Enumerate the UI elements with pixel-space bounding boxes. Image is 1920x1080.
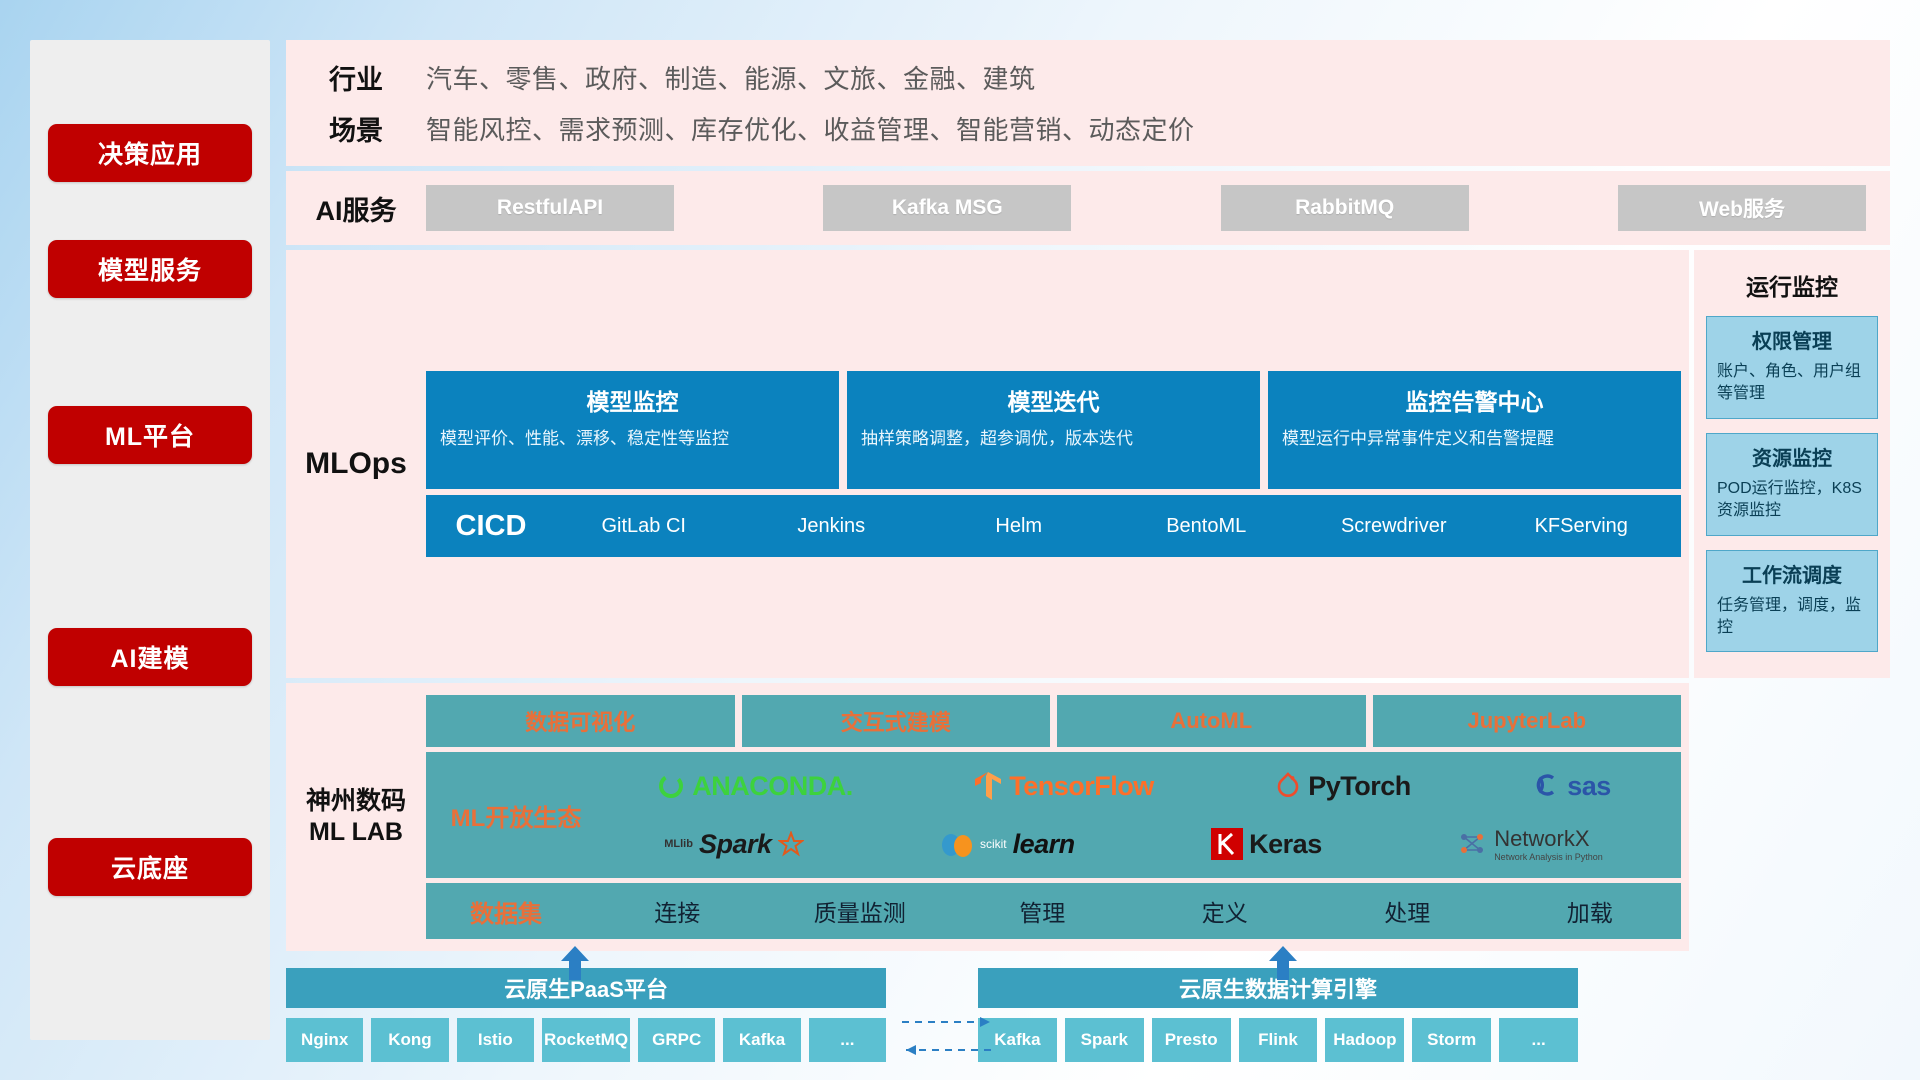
mlops-card-model-monitoring[interactable]: 模型监控 模型评价、性能、漂移、稳定性等监控 [426, 371, 839, 489]
scenario-label: 场景 [286, 109, 426, 148]
card-title: 模型迭代 [861, 383, 1246, 417]
mlops-label: MLOps [286, 447, 426, 481]
anaconda-logo-text: ANACONDA. [692, 771, 853, 802]
networkx-logo-text: NetworkX [1494, 826, 1603, 852]
spark-logo-text: Spark [699, 829, 772, 860]
ml-lab-label-line2: ML LAB [286, 817, 426, 848]
service-restful-api[interactable]: RestfulAPI [426, 185, 674, 231]
tensorflow-icon [973, 770, 1003, 802]
cicd-item-screwdriver[interactable]: Screwdriver [1300, 515, 1488, 538]
ml-lab-band: 神州数码 ML LAB 数据可视化 交互式建模 AutoML JupyterLa… [286, 683, 1890, 951]
arrow-up-data-engine [1266, 946, 1300, 980]
rail-item-model-service[interactable]: 模型服务 [48, 240, 252, 298]
cloud-base-band: 云原生PaaS平台 Nginx Kong Istio RocketMQ GRPC… [286, 968, 1890, 1062]
layer-rail: 决策应用 模型服务 ML平台 AI建模 云底座 [30, 40, 270, 1040]
keras-logo-group: Keras [1211, 828, 1322, 860]
paas-chip-rocketmq[interactable]: RocketMQ [542, 1018, 630, 1062]
engine-chip-hadoop[interactable]: Hadoop [1325, 1018, 1404, 1062]
tab-jupyterlab[interactable]: JupyterLab [1373, 695, 1682, 747]
architecture-diagram: 决策应用 模型服务 ML平台 AI建模 云底座 行业 汽车、零售、政府、制造、能… [0, 0, 1920, 1080]
ml-lab-label: 神州数码 ML LAB [286, 786, 426, 849]
lab-right-spacer [1694, 683, 1890, 951]
cicd-item-helm[interactable]: Helm [925, 515, 1113, 538]
paas-chip-more[interactable]: ... [809, 1018, 886, 1062]
paas-chip-istio[interactable]: Istio [457, 1018, 534, 1062]
dataset-item-load[interactable]: 加载 [1499, 894, 1682, 928]
mlops-band: MLOps 模型监控 模型评价、性能、漂移、稳定性等监控 模型迭代 抽样策略调整… [286, 250, 1890, 678]
tab-data-visualization[interactable]: 数据可视化 [426, 695, 735, 747]
rail-item-ai-modeling[interactable]: AI建模 [48, 628, 252, 686]
monitor-card-permission[interactable]: 权限管理 账户、角色、用户组等管理 [1706, 316, 1878, 419]
service-web[interactable]: Web服务 [1618, 185, 1866, 231]
ai-service-list: RestfulAPI Kafka MSG RabbitMQ Web服务 [426, 185, 1866, 231]
card-desc: 模型运行中异常事件定义和告警提醒 [1282, 427, 1667, 452]
mlops-card-list: 模型监控 模型评价、性能、漂移、稳定性等监控 模型迭代 抽样策略调整，超参调优，… [426, 371, 1681, 489]
data-engine-chip-list: Kafka Spark Presto Flink Hadoop Storm ..… [978, 1018, 1578, 1062]
pytorch-logo-group: PyTorch [1274, 771, 1411, 802]
paas-chip-list: Nginx Kong Istio RocketMQ GRPC Kafka ... [286, 1018, 886, 1062]
runtime-monitor-title: 运行监控 [1706, 260, 1878, 316]
paas-chip-kafka[interactable]: Kafka [723, 1018, 800, 1062]
rail-item-cloud-base[interactable]: 云底座 [48, 838, 252, 896]
ai-service-label: AI服务 [286, 189, 426, 228]
industry-label: 行业 [286, 58, 426, 97]
runtime-monitor-column: 运行监控 权限管理 账户、角色、用户组等管理 资源监控 POD运行监控，K8S资… [1694, 250, 1890, 678]
spark-star-icon [778, 831, 804, 857]
industry-row: 行业 汽车、零售、政府、制造、能源、文旅、金融、建筑 [286, 58, 1890, 97]
industry-values: 汽车、零售、政府、制造、能源、文旅、金融、建筑 [426, 59, 1036, 96]
apache-label: MLlib [664, 838, 693, 850]
data-engine-group: 云原生数据计算引擎 Kafka Spark Presto Flink Hadoo… [978, 968, 1578, 1062]
card-title: 权限管理 [1717, 325, 1867, 354]
networkx-tagline: Network Analysis in Python [1494, 852, 1603, 862]
dataset-item-define[interactable]: 定义 [1134, 894, 1317, 928]
scenario-row: 场景 智能风控、需求预测、库存优化、收益管理、智能营销、动态定价 [286, 109, 1890, 148]
cicd-item-jenkins[interactable]: Jenkins [738, 515, 926, 538]
card-desc: 账户、角色、用户组等管理 [1717, 361, 1867, 406]
tensorflow-logo-group: TensorFlow [973, 770, 1154, 802]
dataset-item-connect[interactable]: 连接 [586, 894, 769, 928]
engine-chip-flink[interactable]: Flink [1239, 1018, 1318, 1062]
card-desc: 模型评价、性能、漂移、稳定性等监控 [440, 427, 825, 452]
pytorch-icon [1274, 771, 1302, 801]
sas-icon [1531, 772, 1561, 800]
card-title: 模型监控 [440, 383, 825, 417]
sas-logo-group: sas [1531, 771, 1611, 802]
rail-item-ml-platform[interactable]: ML平台 [48, 406, 252, 464]
cicd-item-bentoml[interactable]: BentoML [1113, 515, 1301, 538]
ml-ecosystem-label: ML开放生态 [436, 798, 596, 833]
monitor-card-workflow[interactable]: 工作流调度 任务管理，调度，监控 [1706, 550, 1878, 653]
anaconda-logo-group: ANACONDA. [656, 771, 853, 802]
ml-ecosystem-row-2: MLlib Spark scikit learn [596, 816, 1671, 872]
keras-icon [1211, 828, 1243, 860]
monitor-card-resource[interactable]: 资源监控 POD运行监控，K8S资源监控 [1706, 433, 1878, 536]
ai-service-band: AI服务 RestfulAPI Kafka MSG RabbitMQ Web服务 [286, 171, 1890, 245]
scikit-label: scikit [980, 837, 1007, 851]
engine-chip-spark[interactable]: Spark [1065, 1018, 1144, 1062]
cicd-label: CICD [432, 510, 550, 543]
dataset-item-manage[interactable]: 管理 [951, 894, 1134, 928]
scikit-learn-icon [940, 829, 974, 859]
bidirectional-link [898, 1012, 998, 1058]
dataset-row: 数据集 连接 质量监测 管理 定义 处理 加载 [426, 883, 1681, 939]
sas-logo-text: sas [1567, 771, 1611, 802]
tab-interactive-modeling[interactable]: 交互式建模 [742, 695, 1051, 747]
mlops-card-model-iteration[interactable]: 模型迭代 抽样策略调整，超参调优，版本迭代 [847, 371, 1260, 489]
engine-chip-presto[interactable]: Presto [1152, 1018, 1231, 1062]
dataset-item-quality[interactable]: 质量监测 [769, 894, 952, 928]
card-desc: 任务管理，调度，监控 [1717, 595, 1867, 640]
ml-lab-section: 神州数码 ML LAB 数据可视化 交互式建模 AutoML JupyterLa… [286, 683, 1689, 951]
networkx-logo-group: NetworkX Network Analysis in Python [1458, 826, 1603, 862]
ml-ecosystem-panel: ML开放生态 ANACONDA. TensorFlow [426, 752, 1681, 878]
engine-chip-more[interactable]: ... [1499, 1018, 1578, 1062]
cicd-row: CICD GitLab CI Jenkins Helm BentoML Scre… [426, 495, 1681, 557]
tensorflow-logo-text: TensorFlow [1009, 771, 1154, 802]
cicd-item-gitlab-ci[interactable]: GitLab CI [550, 515, 738, 538]
service-kafka-msg[interactable]: Kafka MSG [823, 185, 1071, 231]
engine-chip-storm[interactable]: Storm [1412, 1018, 1491, 1062]
mlops-section: MLOps 模型监控 模型评价、性能、漂移、稳定性等监控 模型迭代 抽样策略调整… [286, 250, 1689, 678]
arrow-up-paas [558, 946, 592, 980]
card-title: 工作流调度 [1717, 559, 1867, 588]
paas-chip-nginx[interactable]: Nginx [286, 1018, 363, 1062]
paas-chip-kong[interactable]: Kong [371, 1018, 448, 1062]
keras-logo-text: Keras [1249, 829, 1322, 860]
card-title: 监控告警中心 [1282, 383, 1667, 417]
learn-logo-text: learn [1013, 829, 1075, 860]
dataset-label: 数据集 [426, 894, 586, 929]
industry-scenario-band: 行业 汽车、零售、政府、制造、能源、文旅、金融、建筑 场景 智能风控、需求预测、… [286, 40, 1890, 166]
dataset-item-process[interactable]: 处理 [1316, 894, 1499, 928]
scikit-learn-logo-group: scikit learn [940, 829, 1075, 860]
ml-lab-tab-list: 数据可视化 交互式建模 AutoML JupyterLab [426, 695, 1681, 747]
paas-group: 云原生PaaS平台 Nginx Kong Istio RocketMQ GRPC… [286, 968, 886, 1062]
paas-chip-grpc[interactable]: GRPC [638, 1018, 715, 1062]
card-title: 资源监控 [1717, 442, 1867, 471]
anaconda-icon [656, 771, 686, 801]
card-desc: POD运行监控，K8S资源监控 [1717, 478, 1867, 523]
mlops-card-alert-center[interactable]: 监控告警中心 模型运行中异常事件定义和告警提醒 [1268, 371, 1681, 489]
rail-item-decision-app[interactable]: 决策应用 [48, 124, 252, 182]
tab-automl[interactable]: AutoML [1057, 695, 1366, 747]
networkx-icon [1458, 830, 1488, 858]
service-rabbitmq[interactable]: RabbitMQ [1221, 185, 1469, 231]
spark-mllib-logo-group: MLlib Spark [664, 829, 803, 860]
ml-ecosystem-row-1: ANACONDA. TensorFlow PyTorch [596, 758, 1671, 814]
card-desc: 抽样策略调整，超参调优，版本迭代 [861, 427, 1246, 452]
main-stack: 行业 汽车、零售、政府、制造、能源、文旅、金融、建筑 场景 智能风控、需求预测、… [286, 40, 1890, 1040]
ml-lab-label-line1: 神州数码 [286, 786, 426, 817]
scenario-values: 智能风控、需求预测、库存优化、收益管理、智能营销、动态定价 [426, 110, 1195, 147]
pytorch-logo-text: PyTorch [1308, 771, 1411, 802]
cicd-item-kfserving[interactable]: KFServing [1488, 515, 1676, 538]
